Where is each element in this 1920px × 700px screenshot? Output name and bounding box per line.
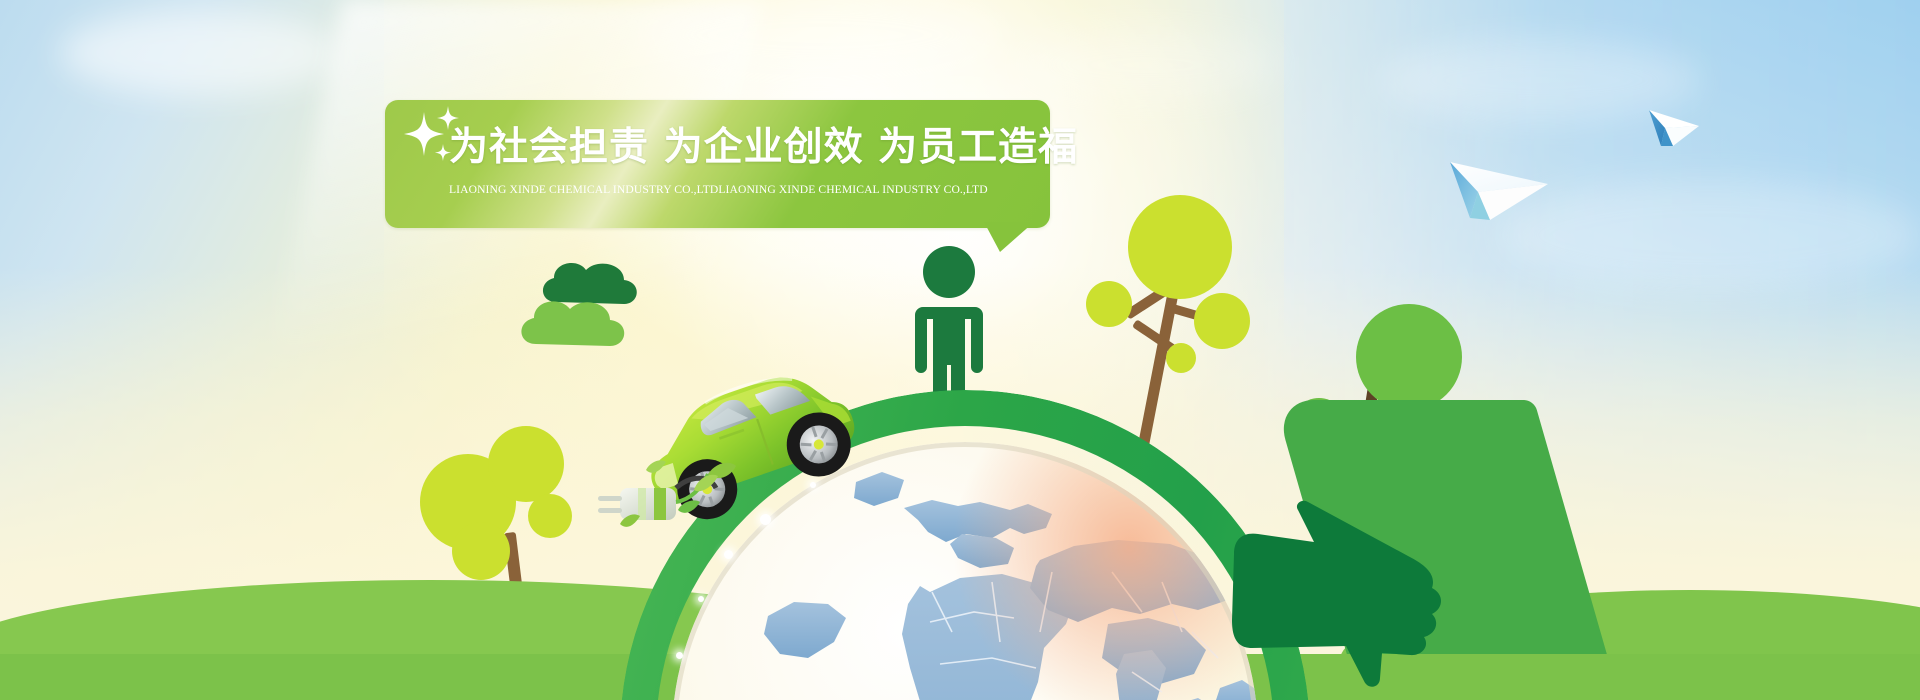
cloud [60,10,340,96]
paper-airplane-icon [1647,106,1709,155]
electric-plug-with-leaves [590,440,740,555]
banner-headline: 为社会担责 为企业创效 为员工造福 [449,121,1059,174]
sparkle-dot [676,652,683,659]
standing-person-pictogram [905,245,993,413]
banner-subline: LIAONING XINDE CHEMICAL INDUSTRY CO.,LTD… [449,183,1049,196]
sparkle-dot [698,596,704,602]
paper-airplane-icon [1448,148,1558,227]
banner-stage: 为社会担责 为企业创效 为员工造福 LIAONING XINDE CHEMICA… [0,0,1920,700]
cloud-bush [510,292,642,381]
cloud [1020,30,1280,100]
green-arrow-pointer [1232,480,1492,695]
